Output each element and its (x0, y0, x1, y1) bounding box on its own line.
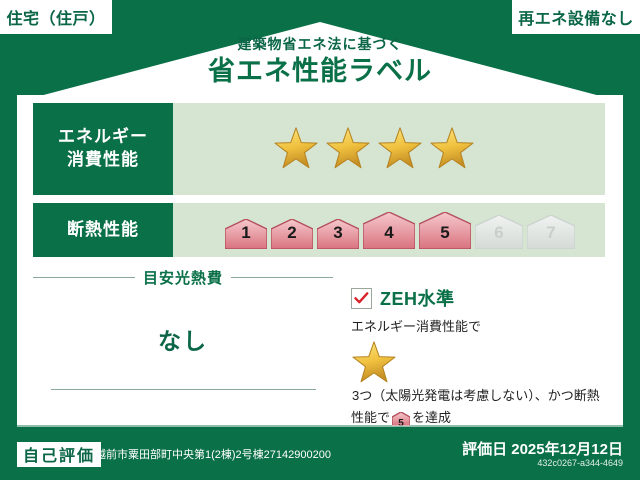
building-type-tag: 住宅（住戸） (0, 0, 112, 34)
insulation-grade-3: 3 (317, 219, 359, 249)
energy-label-line2: 消費性能 (67, 149, 139, 172)
zeh-desc-part1: エネルギー消費性能で (351, 319, 481, 334)
zeh-checkbox (351, 288, 372, 309)
evaluation-date-value: 2025年12月12日 (511, 441, 623, 458)
zeh-description: エネルギー消費性能で3つ（太陽光発電は考慮しない）、かつ断熱性能で5を達成 (351, 317, 605, 432)
insulation-grade-5: 5 (419, 212, 471, 249)
insulation-grade-4: 4 (363, 212, 415, 249)
insulation-grade-number: 2 (271, 223, 313, 243)
insulation-grade-number: 3 (317, 223, 359, 243)
renewable-equipment-tag: 再エネ設備なし (512, 0, 640, 34)
energy-performance-label-box: エネルギー 消費性能 (33, 103, 173, 195)
divider-line-left (33, 277, 135, 278)
star-filled (325, 126, 371, 172)
renewable-equipment-tag-label: 再エネ設備なし (518, 5, 634, 29)
energy-performance-row: エネルギー 消費性能 (33, 103, 605, 195)
star-filled (273, 126, 319, 172)
insulation-grade-number: 4 (363, 223, 415, 243)
lower-section: 目安光熱費 なし ZEH水準 エネルギー消費性能で3つ（太陽光発電は考慮しな (33, 267, 605, 417)
zeh-block: ZEH水準 エネルギー消費性能で3つ（太陽光発電は考慮しない）、かつ断熱性能で5… (351, 285, 605, 432)
insulation-performance-row: 断熱性能 1234567 (33, 203, 605, 257)
zeh-desc-part4: を達成 (412, 410, 451, 425)
insulation-grade-6: 6 (475, 215, 523, 249)
utility-cost-block: 目安光熱費 なし (33, 267, 333, 356)
zeh-title: ZEH水準 (380, 285, 455, 311)
insulation-grade-number: 5 (419, 223, 471, 243)
building-type-tag-label: 住宅（住戸） (6, 5, 105, 29)
utility-cost-bottom-rule (51, 389, 316, 390)
insulation-grade-number: 6 (475, 223, 523, 243)
energy-performance-value (173, 103, 605, 195)
insulation-grade-2: 2 (271, 219, 313, 249)
zeh-heading: ZEH水準 (351, 285, 605, 311)
footer: 自己評価 越前市粟田部町中央第1(2棟)2号棟27142900200 評価日 2… (0, 425, 640, 480)
evaluation-date: 評価日 2025年12月12日 (462, 438, 623, 459)
zeh-desc-part2: 3つ（太陽光発電 (352, 388, 450, 403)
evaluation-date-label: 評価日 (462, 441, 507, 458)
insulation-grade-number: 7 (527, 223, 575, 243)
utility-cost-heading: 目安光熱費 (33, 267, 333, 288)
insulation-performance-value: 1234567 (173, 203, 605, 257)
star-rating (273, 126, 475, 172)
star-filled (377, 126, 423, 172)
check-icon (354, 292, 369, 305)
energy-performance-label: 住宅（住戸） 再エネ設備なし 建築物省エネ法に基づく 省エネ性能ラベル エネルギ… (0, 0, 640, 480)
insulation-performance-label-box: 断熱性能 (33, 203, 173, 257)
evaluation-id: 432c0267-a344-4649 (537, 458, 623, 468)
self-evaluation-badge: 自己評価 (17, 442, 101, 467)
property-address: 越前市粟田部町中央第1(2棟)2号棟27142900200 (95, 446, 331, 462)
divider-line-right (231, 277, 333, 278)
star-filled (429, 126, 475, 172)
label-body: エネルギー 消費性能 断熱性能 1234567 目安光熱費 (17, 95, 623, 425)
inline-star-icon (351, 340, 605, 386)
insulation-grade-number: 1 (225, 223, 267, 243)
insulation-grade-7: 7 (527, 215, 575, 249)
roof-shape (17, 22, 623, 102)
utility-cost-value: なし (33, 322, 333, 356)
footer-divider (17, 425, 623, 427)
insulation-label: 断熱性能 (67, 219, 139, 242)
insulation-grade-1: 1 (225, 219, 267, 249)
insulation-grade-scale: 1234567 (225, 212, 575, 249)
energy-label-line1: エネルギー (58, 126, 148, 149)
utility-cost-title: 目安光熱費 (143, 267, 223, 288)
